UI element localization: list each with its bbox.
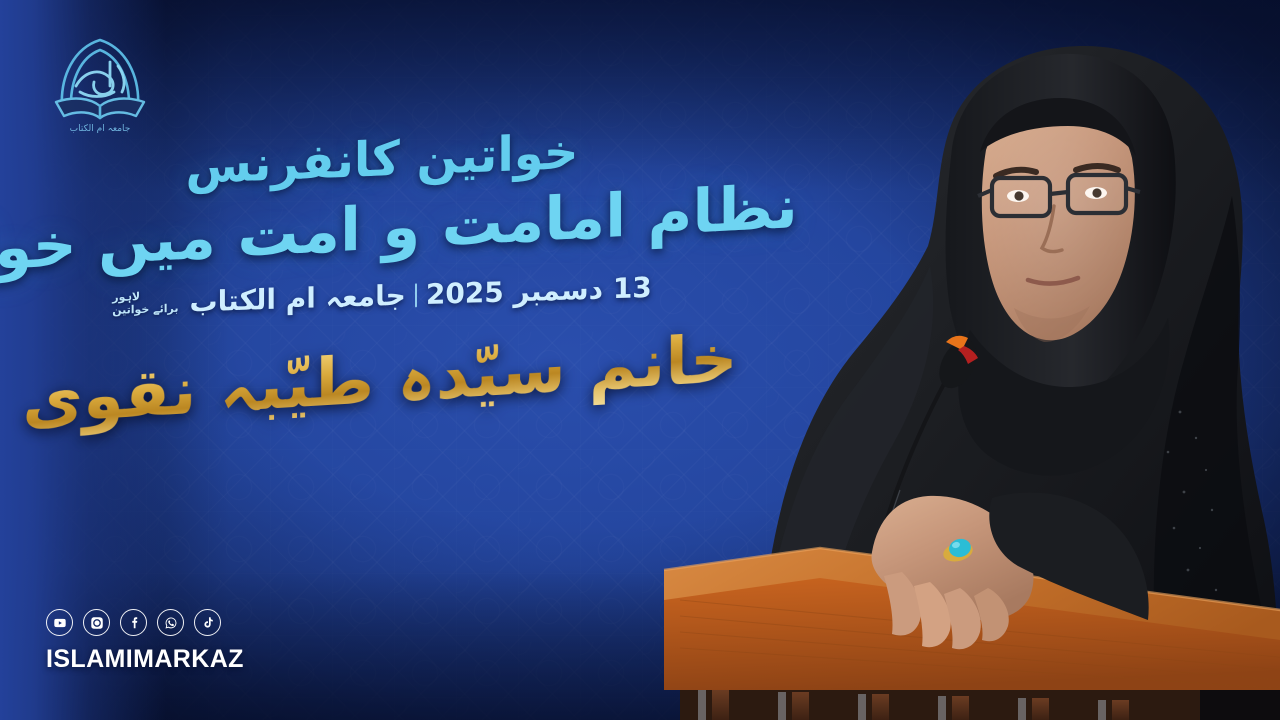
brand-name: ISLAMIMARKAZ [46,645,244,674]
banner-stage: جامعہ ام الکتاب خواتین کانفرنس نظام امام… [0,0,1280,720]
banner-text-block: خواتین کانفرنس نظام امامت و امت میں خوات… [0,130,790,421]
venue-note-line-2: برائے خواتین [112,303,178,318]
whatsapp-icon[interactable] [157,609,184,636]
event-venue: جامعہ ام الکتاب [190,279,406,319]
podium-slats [680,690,1280,720]
event-date: 13 دسمبر 2025 [426,271,652,311]
youtube-icon[interactable] [46,609,73,636]
venue-note: لاہور برائے خواتین [112,290,178,317]
social-icon-row [46,609,244,636]
logo-caption-text: جامعہ ام الکتاب [70,124,131,134]
instagram-icon[interactable] [83,609,110,636]
jamia-umm-al-kitab-logo: جامعہ ام الکتاب [40,24,160,136]
facebook-icon[interactable] [120,609,147,636]
tiktok-icon[interactable] [194,609,221,636]
social-footer: ISLAMIMARKAZ [46,609,244,674]
meta-separator [415,283,417,307]
